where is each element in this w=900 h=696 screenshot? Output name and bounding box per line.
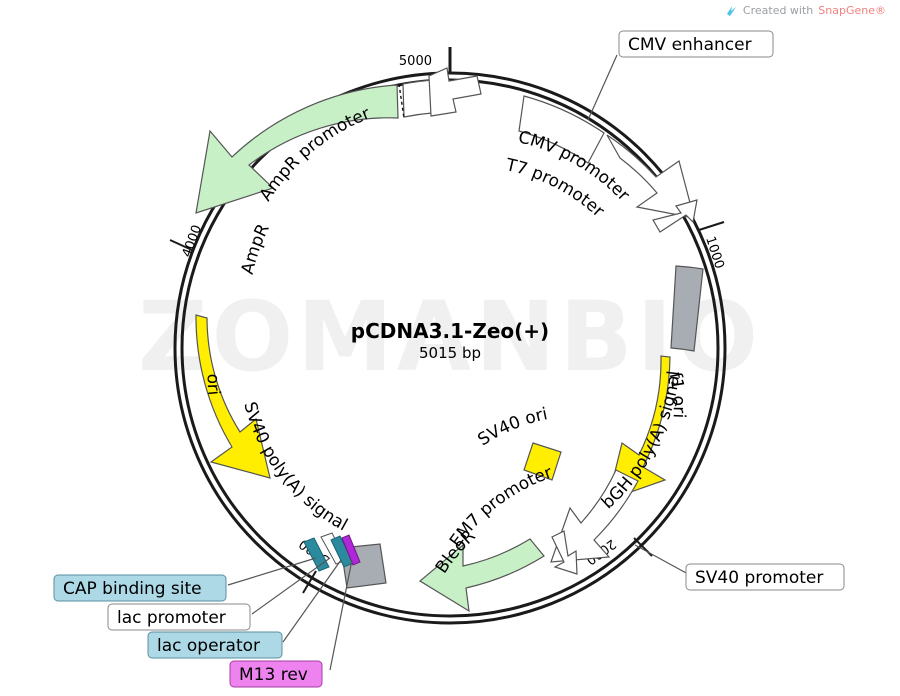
callout-label-cap-binding-site: CAP binding site [63,579,202,599]
tick-label-4000: 4000 [180,223,205,259]
label-ori: ori [203,374,224,397]
label-ampr: AmpR [238,221,274,277]
callout-cap-binding-site[interactable]: CAP binding site [54,575,226,601]
plasmid-map: ZOMANBIO 5000 1000 2000 3000 4000 [0,0,900,696]
page-title: pCDNA3.1-Zeo(+) [351,319,549,343]
callout-label-lac-promoter: lac promoter [117,608,226,628]
callout-cmv-enhancer[interactable]: CMV enhancer [619,31,773,57]
feature-bleor[interactable] [420,539,544,611]
tick-label-5000: 5000 [399,54,432,69]
callout-label-cmv-enhancer: CMV enhancer [628,35,752,55]
callout-label-lac-operator: lac operator [157,636,260,656]
callout-sv40-promoter[interactable]: SV40 promoter [686,564,844,590]
callout-lac-operator[interactable]: lac operator [148,632,282,658]
callout-lac-promoter[interactable]: lac promoter [108,604,250,630]
callout-label-m13-rev: M13 rev [239,665,308,685]
label-sv40-ori: SV40 ori [474,404,549,450]
plasmid-size: 5015 bp [419,344,481,362]
callout-label-sv40-promoter: SV40 promoter [695,568,823,588]
callout-m13-rev[interactable]: M13 rev [230,661,322,687]
